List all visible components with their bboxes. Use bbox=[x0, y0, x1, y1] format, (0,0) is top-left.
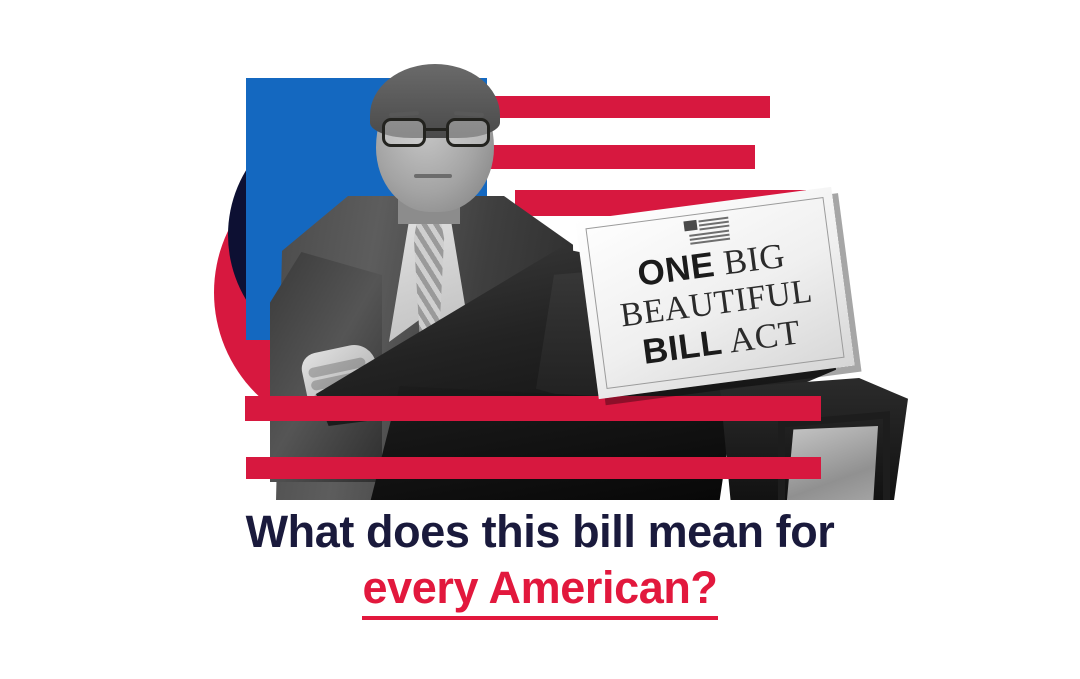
sign-word-big: BIG bbox=[721, 236, 787, 283]
marble-frame bbox=[778, 411, 890, 500]
collage-illustration: ONE BIG BEAUTIFUL BILL ACT bbox=[0, 0, 1080, 500]
headline-accent-text: every American? bbox=[362, 562, 717, 620]
headline-line-2: every American? bbox=[0, 562, 1080, 615]
red-stripe-4 bbox=[245, 396, 821, 421]
red-stripe-5 bbox=[246, 457, 821, 479]
headline: What does this bill mean for every Ameri… bbox=[0, 506, 1080, 614]
emblem-block bbox=[683, 220, 697, 232]
promo-graphic-canvas: ONE BIG BEAUTIFUL BILL ACT What does thi… bbox=[0, 0, 1080, 679]
bill-sign-placard: ONE BIG BEAUTIFUL BILL ACT bbox=[575, 187, 854, 399]
headline-line-1: What does this bill mean for bbox=[246, 506, 835, 557]
